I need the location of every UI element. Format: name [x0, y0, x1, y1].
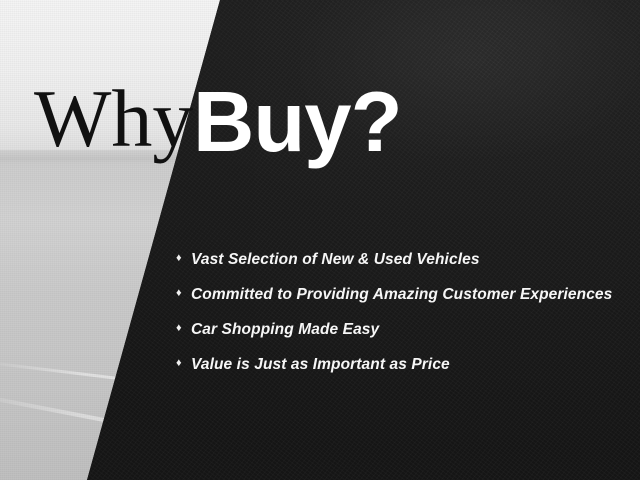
diamond-bullet-icon: ♦: [176, 288, 191, 299]
benefits-list: ♦ Vast Selection of New & Used Vehicles …: [176, 252, 626, 392]
list-item: ♦ Car Shopping Made Easy: [176, 322, 626, 357]
panel-highlight-sheen: [300, 0, 640, 180]
why-buy-slide: Why Buy? ♦ Vast Selection of New & Used …: [0, 0, 640, 480]
list-item: ♦ Committed to Providing Amazing Custome…: [176, 287, 626, 322]
diamond-bullet-icon: ♦: [176, 253, 191, 264]
list-item-label: Car Shopping Made Easy: [191, 322, 379, 338]
list-item-label: Value is Just as Important as Price: [191, 357, 450, 373]
list-item-label: Committed to Providing Amazing Customer …: [191, 287, 612, 303]
diamond-bullet-icon: ♦: [176, 323, 191, 334]
list-item: ♦ Vast Selection of New & Used Vehicles: [176, 252, 626, 287]
diamond-bullet-icon: ♦: [176, 358, 191, 369]
list-item: ♦ Value is Just as Important as Price: [176, 357, 626, 392]
list-item-label: Vast Selection of New & Used Vehicles: [191, 252, 480, 268]
